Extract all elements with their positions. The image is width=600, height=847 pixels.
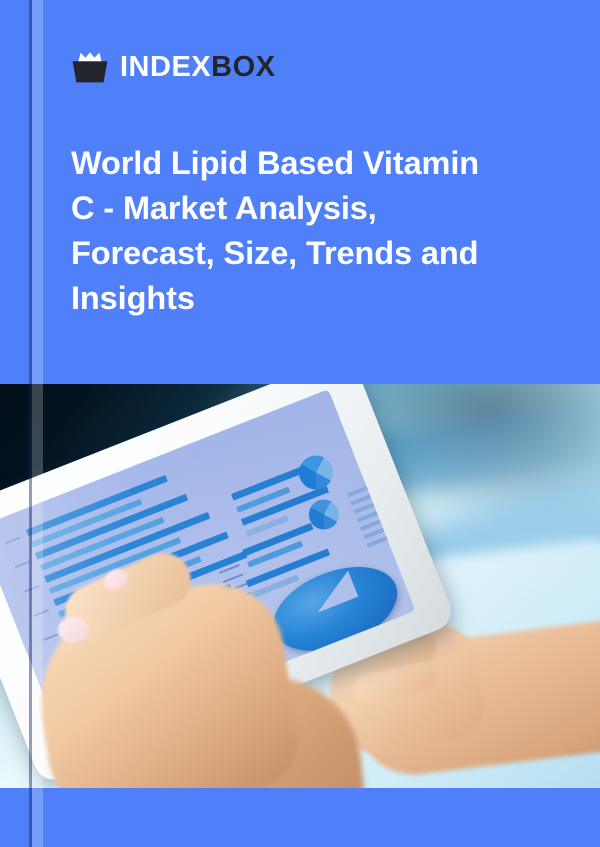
hero-banner: INDEXBOX World Lipid Based Vitamin C - M… [0,0,600,384]
brand-wordmark: INDEXBOX [120,53,275,82]
title-line-2: C - Market Analysis, [71,186,571,231]
brand-logo[interactable]: INDEXBOX [71,47,275,87]
report-cover-page: INDEXBOX World Lipid Based Vitamin C - M… [0,0,600,847]
title-line-3: Forecast, Size, Trends and [71,231,571,276]
hands-holding-tablet-photo [0,384,600,789]
brand-word-index: INDEX [120,53,211,82]
brand-word-box: BOX [211,53,275,82]
basket-crown-logo-icon [71,52,109,83]
photo-fingernail-lower [58,617,88,643]
page-title: World Lipid Based Vitamin C - Market Ana… [71,141,571,321]
title-line-4: Insights [71,276,571,321]
footer-band [0,788,600,847]
title-line-1: World Lipid Based Vitamin [71,141,571,186]
